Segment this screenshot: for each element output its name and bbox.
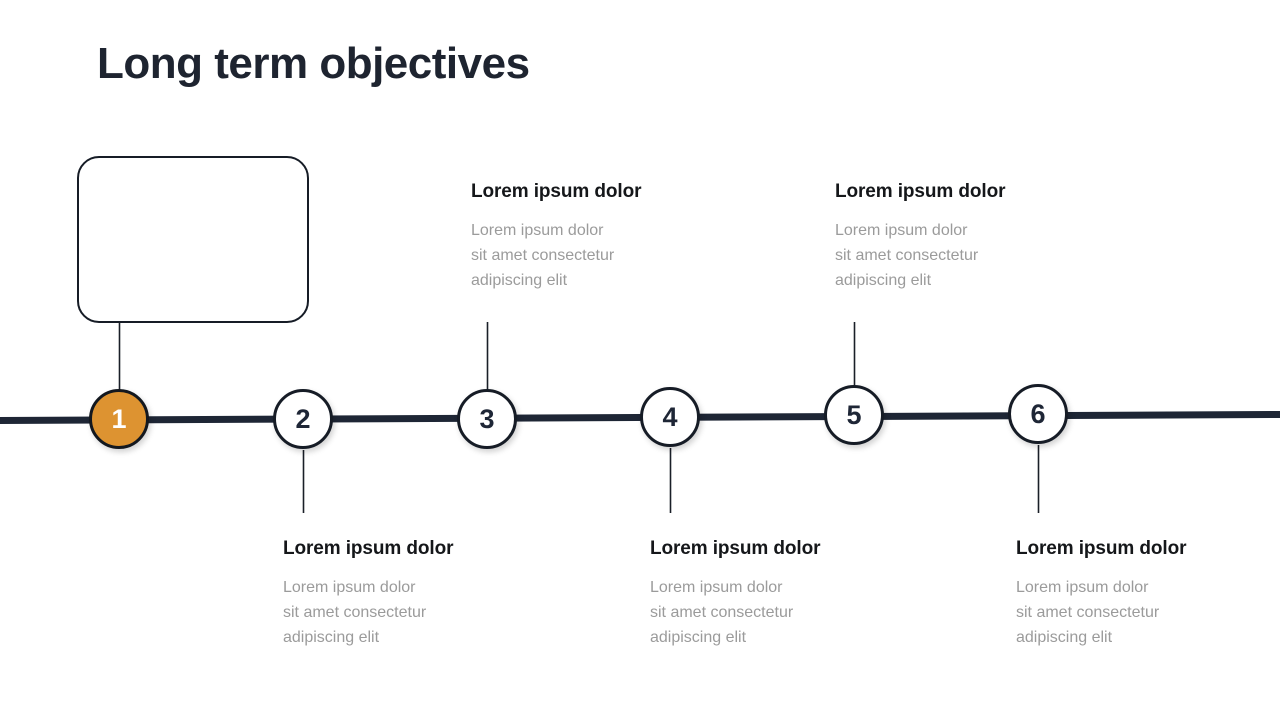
milestone-marker-1[interactable]: 1	[89, 389, 149, 449]
milestone-marker-4[interactable]: 4	[640, 387, 700, 447]
entry-heading-6: Lorem ipsum dolor	[1016, 537, 1231, 561]
page-title: Long term objectives	[97, 38, 530, 90]
entry-body-4: Lorem ipsum dolor sit amet consectetur a…	[650, 575, 865, 650]
milestone-marker-2[interactable]: 2	[273, 389, 333, 449]
entry-heading-3: Lorem ipsum dolor	[471, 180, 686, 204]
highlight-card[interactable]	[77, 156, 309, 323]
timeline-entry-4[interactable]: Lorem ipsum dolor Lorem ipsum dolor sit …	[650, 537, 865, 650]
entry-heading-2: Lorem ipsum dolor	[283, 537, 498, 561]
milestone-marker-3[interactable]: 3	[457, 389, 517, 449]
slide-canvas: Long term objectives Lorem ipsum dolor L…	[0, 0, 1280, 720]
milestone-marker-5[interactable]: 5	[824, 385, 884, 445]
timeline-entry-6[interactable]: Lorem ipsum dolor Lorem ipsum dolor sit …	[1016, 537, 1231, 650]
entry-body-3: Lorem ipsum dolor sit amet consectetur a…	[471, 218, 686, 293]
timeline-entry-2[interactable]: Lorem ipsum dolor Lorem ipsum dolor sit …	[283, 537, 498, 650]
timeline-entry-5[interactable]: Lorem ipsum dolor Lorem ipsum dolor sit …	[835, 180, 1050, 293]
entry-body-5: Lorem ipsum dolor sit amet consectetur a…	[835, 218, 1050, 293]
timeline-entry-3[interactable]: Lorem ipsum dolor Lorem ipsum dolor sit …	[471, 180, 686, 293]
entry-heading-5: Lorem ipsum dolor	[835, 180, 1050, 204]
entry-heading-4: Lorem ipsum dolor	[650, 537, 865, 561]
entry-body-2: Lorem ipsum dolor sit amet consectetur a…	[283, 575, 498, 650]
entry-body-6: Lorem ipsum dolor sit amet consectetur a…	[1016, 575, 1231, 650]
milestone-marker-6[interactable]: 6	[1008, 384, 1068, 444]
